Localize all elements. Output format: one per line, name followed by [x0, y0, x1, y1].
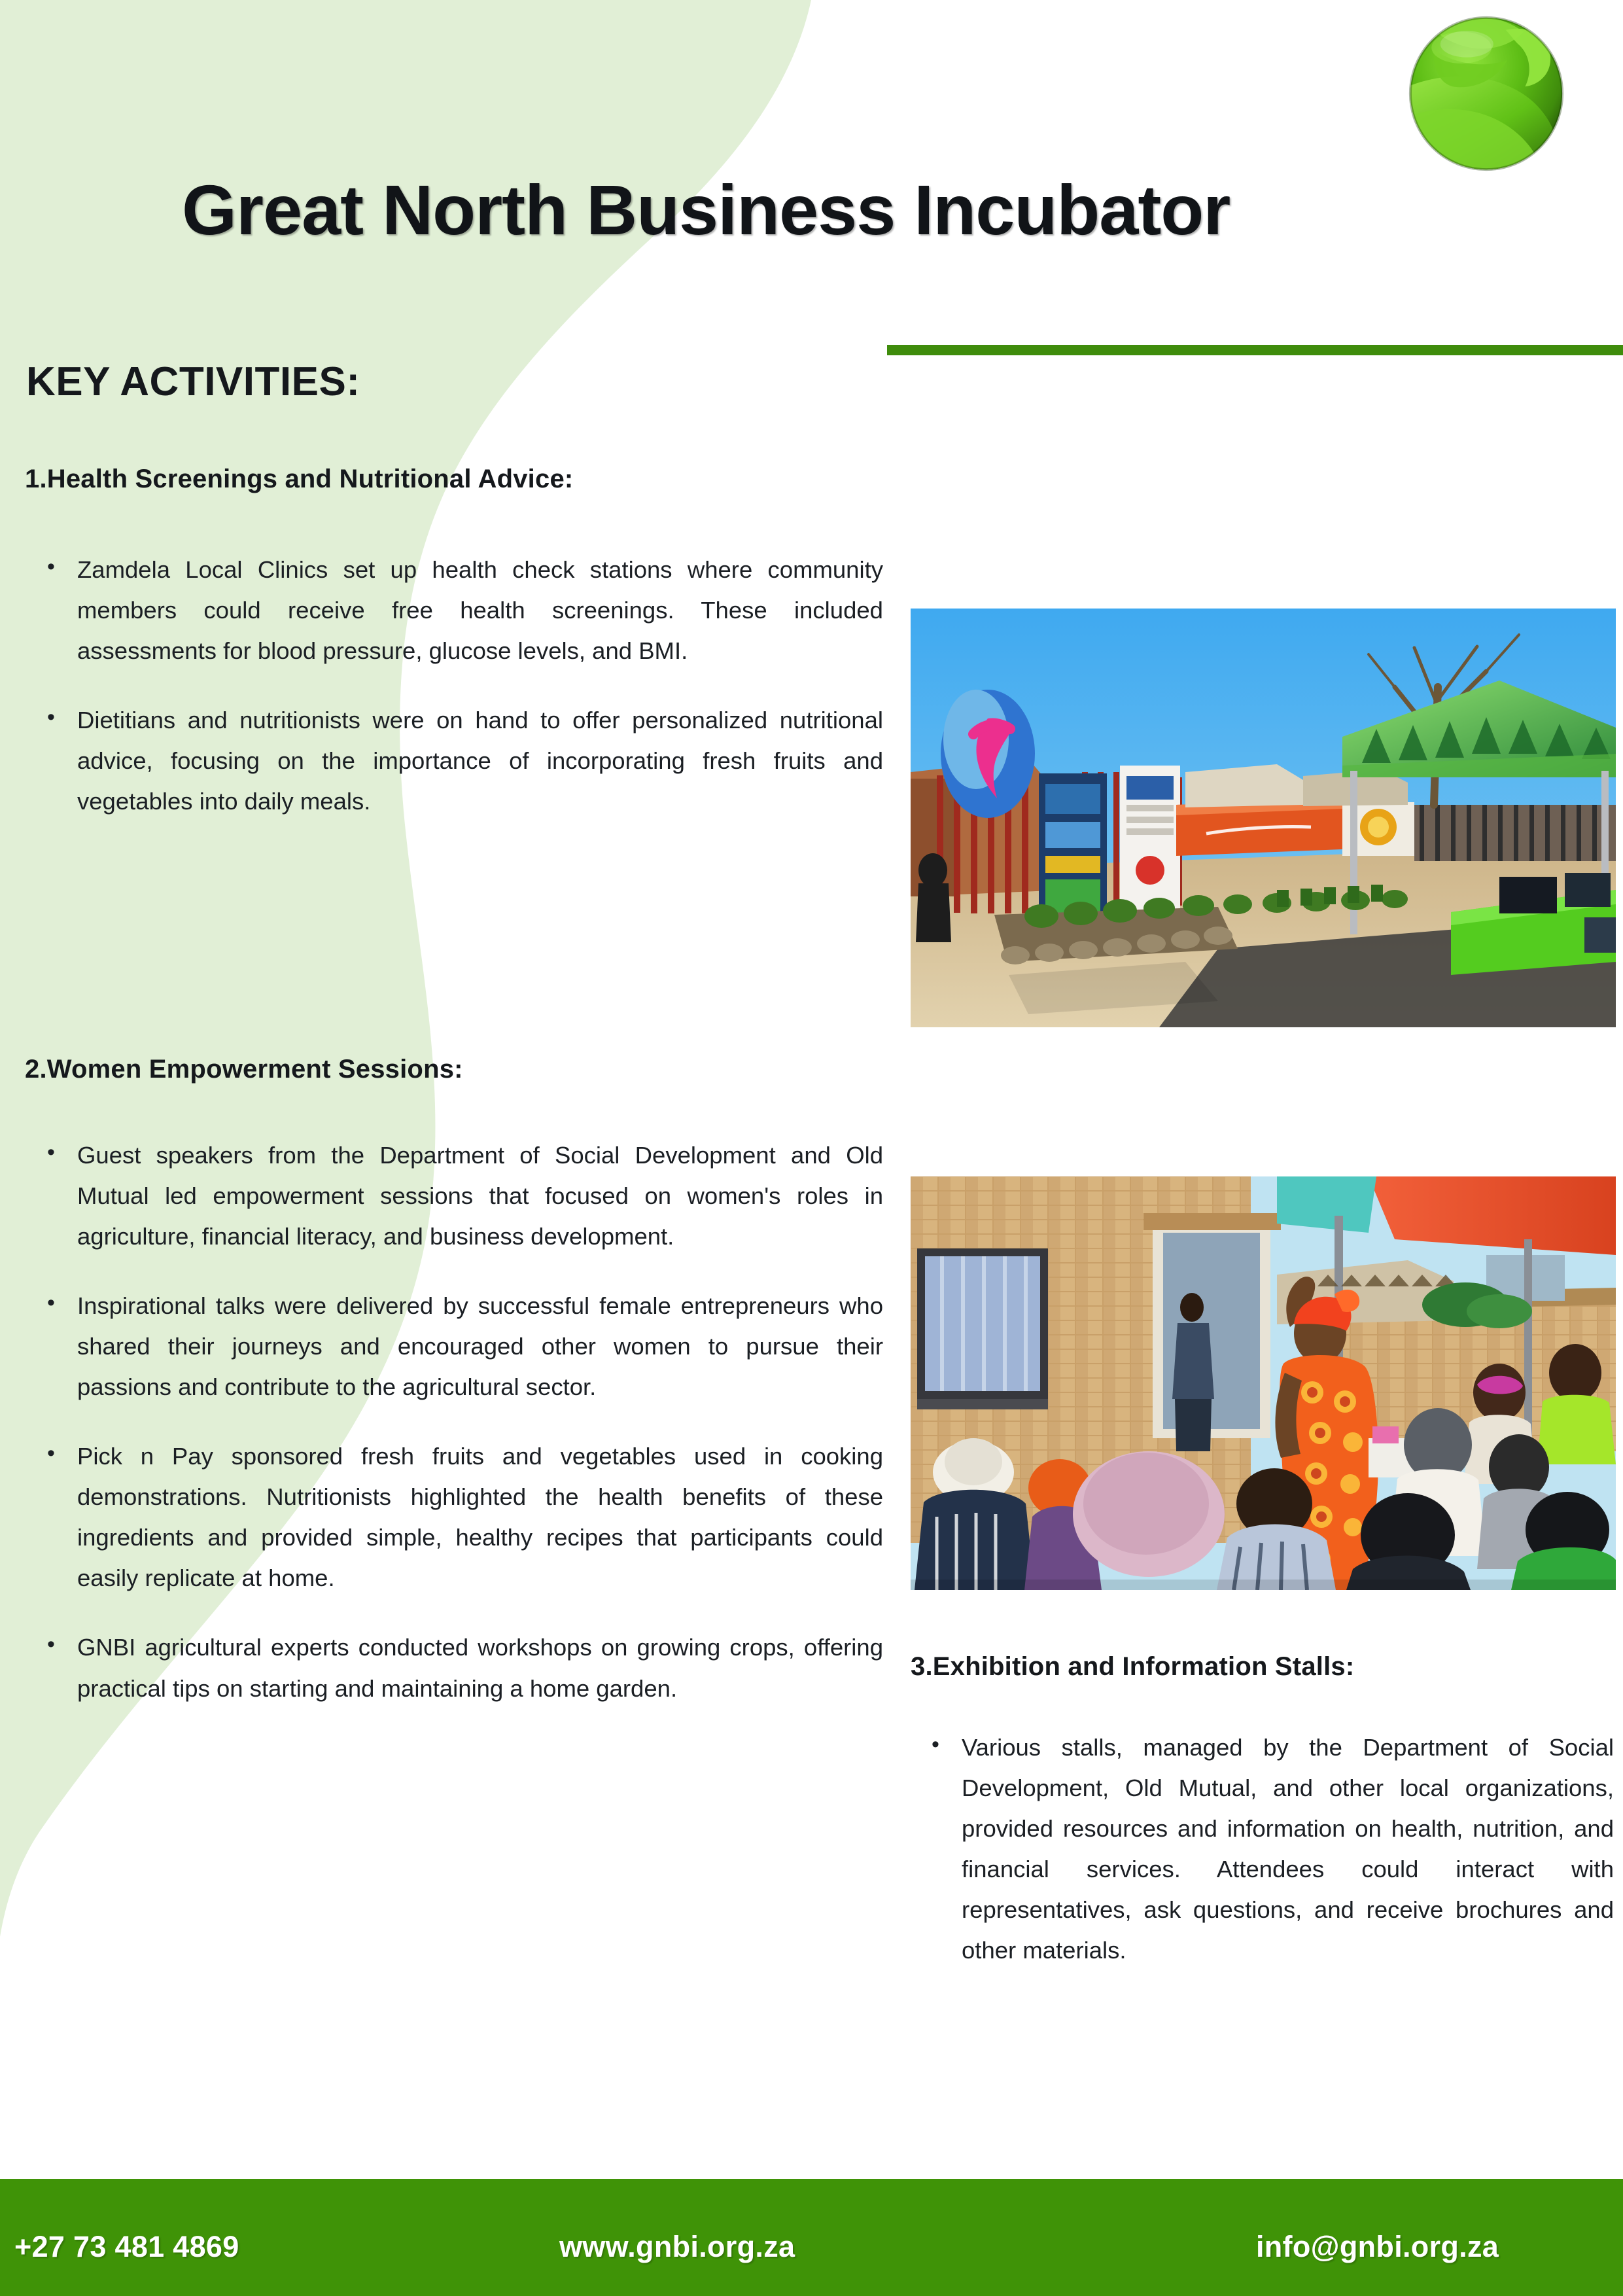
- section-3-heading: 3.Exhibition and Information Stalls:: [911, 1652, 1354, 1682]
- list-item: Pick n Pay sponsored fresh fruits and ve…: [39, 1436, 883, 1598]
- list-item: Zamdela Local Clinics set up health chec…: [39, 550, 883, 671]
- section-3-bullet-list: Various stalls, managed by the Departmen…: [924, 1727, 1614, 1971]
- footer-phone[interactable]: +27 73 481 4869: [14, 2230, 239, 2264]
- footer-bar: +27 73 481 4869 www.gnbi.org.za info@gnb…: [0, 2179, 1623, 2296]
- list-item: Guest speakers from the Department of So…: [39, 1135, 883, 1257]
- women-empowerment-session-photo: [911, 1176, 1616, 1590]
- section-1-bullet-list: Zamdela Local Clinics set up health chec…: [39, 550, 883, 822]
- page-title: Great North Business Incubator: [182, 169, 1230, 251]
- poster-page: Great North Business Incubator KEY ACTIV…: [0, 0, 1623, 2296]
- footer-website[interactable]: www.gnbi.org.za: [559, 2230, 795, 2264]
- section-2-heading: 2.Women Empowerment Sessions:: [25, 1055, 463, 1084]
- key-activities-heading: KEY ACTIVITIES:: [26, 359, 360, 405]
- decorative-green-blob: [0, 0, 955, 2061]
- list-item: Dietitians and nutritionists were on han…: [39, 700, 883, 822]
- list-item: Various stalls, managed by the Departmen…: [924, 1727, 1614, 1971]
- footer-email[interactable]: info@gnbi.org.za: [1256, 2230, 1499, 2264]
- gnbi-logo-icon: [1389, 5, 1583, 182]
- list-item: GNBI agricultural experts conducted work…: [39, 1627, 883, 1708]
- list-item: Inspirational talks were delivered by su…: [39, 1286, 883, 1407]
- health-screening-event-photo: [911, 609, 1616, 1027]
- section-1-heading: 1.Health Screenings and Nutritional Advi…: [25, 465, 573, 494]
- header-divider-rule: [887, 345, 1623, 355]
- section-2-bullet-list: Guest speakers from the Department of So…: [39, 1135, 883, 1709]
